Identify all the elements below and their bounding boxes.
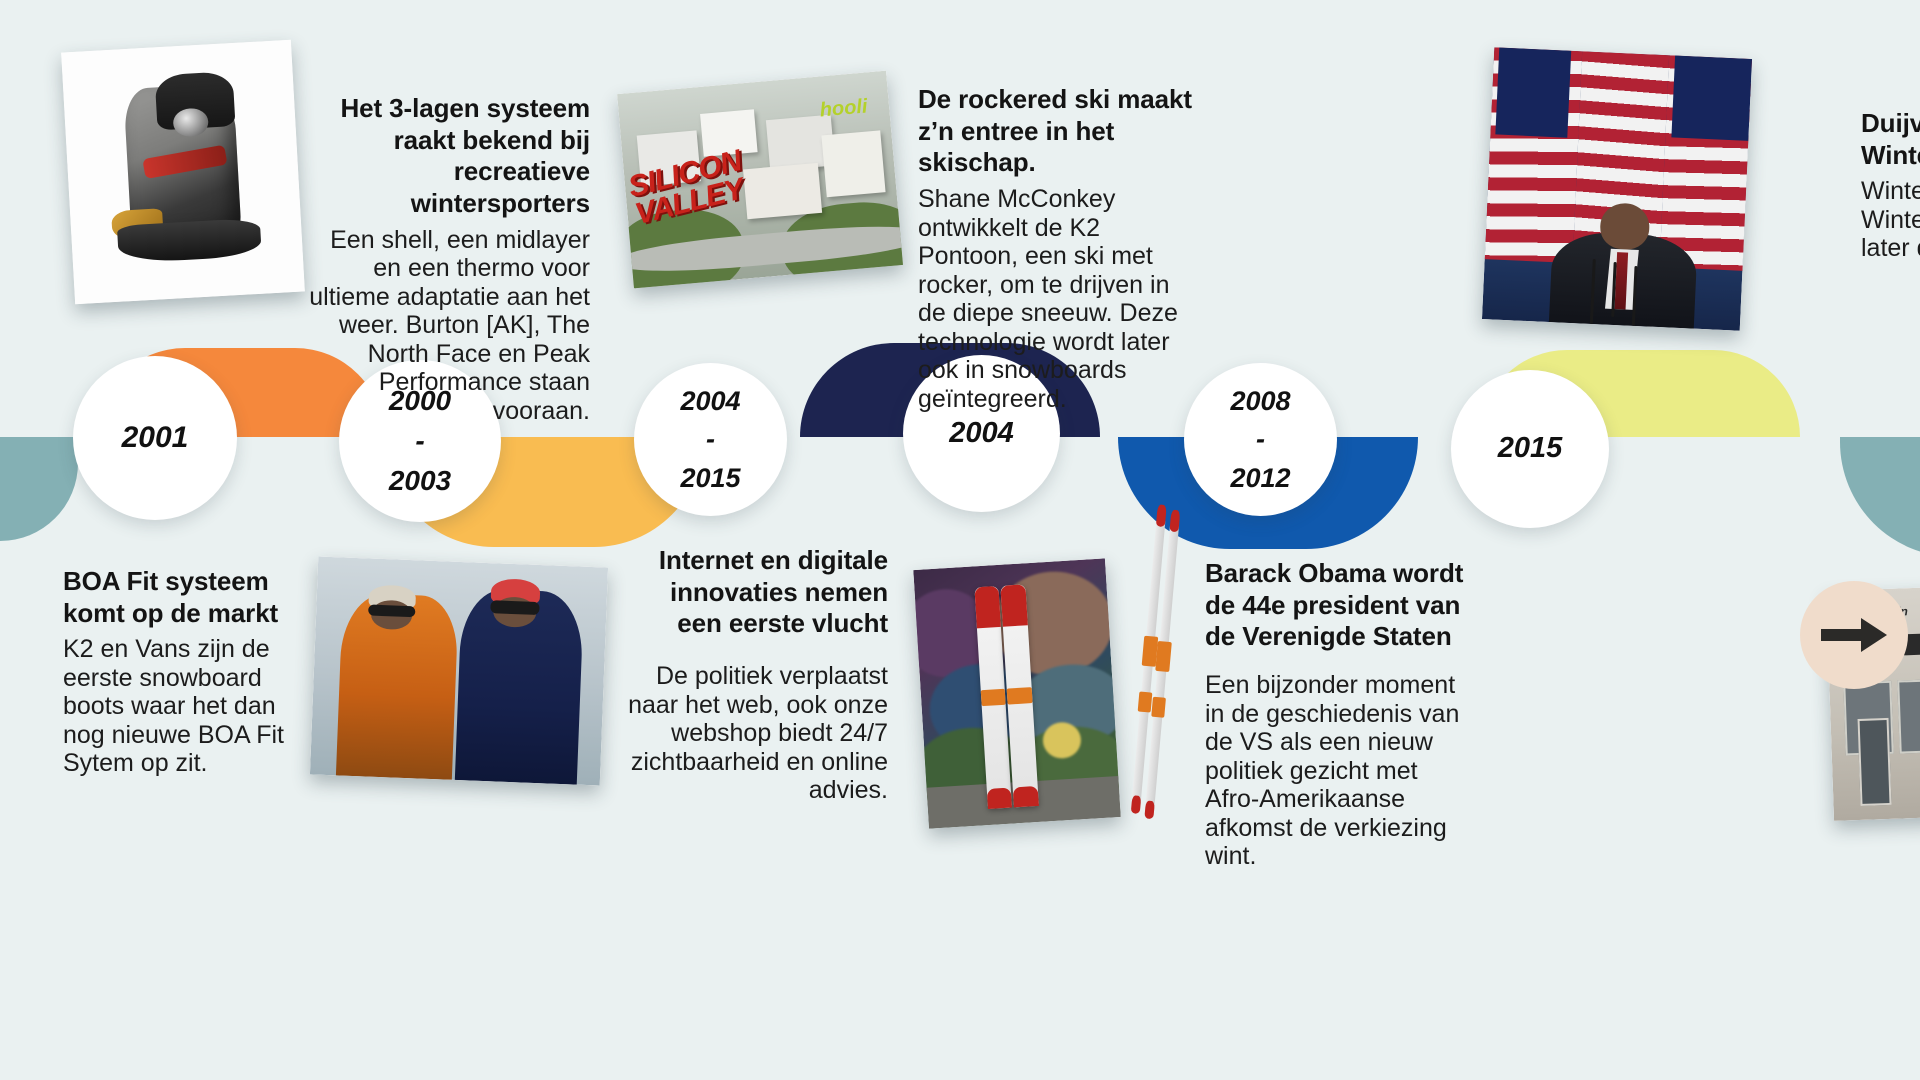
- entry-obama-body: Een bijzonder moment in de geschiedenis …: [1205, 671, 1473, 871]
- timeline-node-2008-2012-line-2: 2012: [1230, 459, 1290, 497]
- entry-duijvestein-body: Wintersport Wintersport nieuwe later de …: [1861, 177, 1920, 263]
- entry-internet: Internet en digitale innovaties nemen ee…: [620, 545, 888, 805]
- entry-internet-body: De politiek verplaatst naar het web, ook…: [620, 662, 888, 805]
- entry-boa-fit-body: K2 en Vans zijn de eerste snowboard boot…: [63, 635, 321, 778]
- entry-boa-fit-heading: BOA Fit systeem komt op de markt: [63, 566, 321, 629]
- entry-duijvestein-heading: Duijvestein Wintersport: [1861, 108, 1920, 171]
- photo-silicon-valley: hooli SILICON VALLEY: [617, 71, 903, 289]
- hooli-sign-text: hooli: [819, 96, 869, 123]
- photo-snowboard-boot: [61, 40, 305, 304]
- timeline-node-2000-2003-line-2: 2003: [389, 461, 451, 501]
- timeline-next-arrow-button[interactable]: [1800, 581, 1908, 689]
- timeline-canvas: hooli SILICON VALLEY: [0, 0, 1920, 1080]
- timeline-node-2008-2012[interactable]: 2008 - 2012: [1184, 363, 1337, 516]
- entry-obama: Barack Obama wordt de 44e president van …: [1205, 558, 1473, 871]
- timeline-node-2004-line-0: 2004: [949, 413, 1014, 454]
- timeline-node-2001[interactable]: 2001: [73, 356, 237, 520]
- timeline-node-2008-2012-line-1: -: [1256, 420, 1265, 458]
- entry-3lagen-heading: Het 3-lagen systeem raakt bekend bij rec…: [300, 93, 590, 220]
- entry-rockered-ski: De rockered ski maakt z’n entree in het …: [918, 84, 1196, 413]
- timeline-segment-teal-left: [0, 437, 78, 541]
- entry-obama-heading: Barack Obama wordt de 44e president van …: [1205, 558, 1473, 653]
- entry-duijvestein: Duijvestein Wintersport Wintersport Wint…: [1861, 108, 1920, 263]
- photo-wintersporters: [310, 557, 608, 786]
- entry-internet-heading: Internet en digitale innovaties nemen ee…: [620, 545, 888, 640]
- arrow-right-icon: [1821, 618, 1887, 652]
- entry-rockered-ski-body: Shane McConkey ontwikkelt de K2 Pontoon,…: [918, 185, 1196, 413]
- timeline-node-2008-2012-line-0: 2008: [1230, 382, 1290, 420]
- entry-3lagen: Het 3-lagen systeem raakt bekend bij rec…: [300, 93, 590, 425]
- entry-boa-fit: BOA Fit systeem komt op de markt K2 en V…: [63, 566, 321, 778]
- timeline-node-2001-line-0: 2001: [122, 417, 189, 460]
- entry-rockered-ski-heading: De rockered ski maakt z’n entree in het …: [918, 84, 1196, 179]
- photo-k2-skis: [913, 558, 1120, 828]
- timeline-node-2004-2015-line-1: -: [706, 420, 715, 458]
- entry-3lagen-body: Een shell, een midlayer en een thermo vo…: [300, 226, 590, 426]
- timeline-node-2015-line-0: 2015: [1498, 428, 1563, 469]
- timeline-node-2015[interactable]: 2015: [1451, 370, 1609, 528]
- timeline-node-2004-2015-line-2: 2015: [680, 459, 740, 497]
- photo-obama: [1482, 47, 1752, 330]
- timeline-segment-teal-right: [1840, 437, 1920, 557]
- photo-loose-skis: [1104, 502, 1211, 823]
- timeline-node-2004-2015[interactable]: 2004 - 2015: [634, 363, 787, 516]
- timeline-node-2004-2015-line-0: 2004: [680, 382, 740, 420]
- timeline-node-2000-2003-line-1: -: [415, 421, 424, 461]
